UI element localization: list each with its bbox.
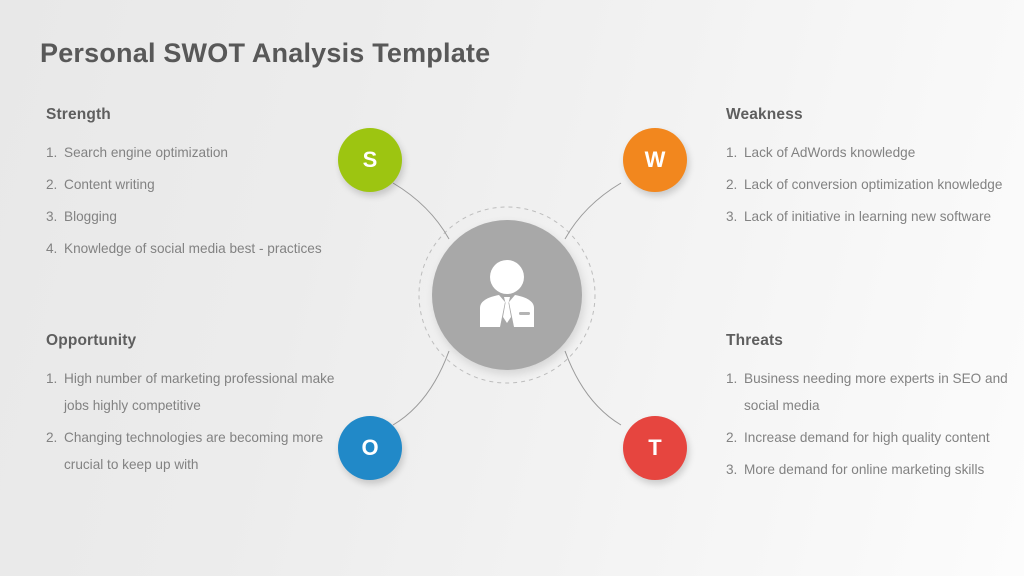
node-label-t: T [648,435,661,461]
list-item: 1.Business needing more experts in SEO a… [726,366,1024,420]
list-item-number: 1. [46,366,57,393]
list-item-text: High number of marketing professional ma… [64,371,335,413]
list-item-number: 2. [46,425,57,452]
node-opportunity[interactable]: O [338,416,402,480]
list-item: 2.Changing technologies are becoming mor… [46,425,346,479]
list-item-text: Increase demand for high quality content [744,430,990,445]
quadrant-opportunity: Opportunity 1.High number of marketing p… [46,332,346,484]
node-strength[interactable]: S [338,128,402,192]
list-item-text: Lack of AdWords knowledge [744,145,915,160]
list-item-number: 2. [726,425,737,452]
list-item: 1.Search engine optimization [46,140,346,167]
connector-t [565,351,621,425]
list-item-text: Search engine optimization [64,145,228,160]
node-label-w: W [645,147,666,173]
quadrant-list-opportunity: 1.High number of marketing professional … [46,366,346,479]
quadrant-heading-opportunity: Opportunity [46,332,346,350]
quadrant-heading-strength: Strength [46,106,346,124]
center-hub [432,220,582,370]
quadrant-weakness: Weakness 1.Lack of AdWords knowledge2.La… [726,106,1024,236]
list-item-number: 1. [46,140,57,167]
quadrant-threats: Threats 1.Business needing more experts … [726,332,1024,489]
quadrant-list-strength: 1.Search engine optimization2.Content wr… [46,140,346,263]
list-item-text: Changing technologies are becoming more … [64,430,323,472]
list-item: 2.Lack of conversion optimization knowle… [726,172,1024,199]
list-item-text: Content writing [64,177,155,192]
list-item-number: 4. [46,236,57,263]
slide-canvas: Personal SWOT Analysis Template S W [0,0,1024,576]
list-item-text: Lack of conversion optimization knowledg… [744,177,1002,192]
list-item: 4.Knowledge of social media best - pract… [46,236,346,263]
list-item-number: 2. [726,172,737,199]
list-item-number: 1. [726,140,737,167]
list-item-number: 1. [726,366,737,393]
list-item-text: Business needing more experts in SEO and… [744,371,1008,413]
list-item-text: Knowledge of social media best - practic… [64,241,322,256]
list-item: 3.More demand for online marketing skill… [726,457,1024,484]
node-threats[interactable]: T [623,416,687,480]
list-item: 1.Lack of AdWords knowledge [726,140,1024,167]
quadrant-heading-weakness: Weakness [726,106,1024,124]
connector-w [565,183,621,239]
list-item: 3.Blogging [46,204,346,231]
node-label-s: S [363,147,378,173]
list-item-text: Blogging [64,209,117,224]
list-item-number: 2. [46,172,57,199]
list-item: 2.Increase demand for high quality conte… [726,425,1024,452]
connector-o [393,351,449,425]
quadrant-heading-threats: Threats [726,332,1024,350]
list-item-number: 3. [46,204,57,231]
quadrant-list-weakness: 1.Lack of AdWords knowledge2.Lack of con… [726,140,1024,231]
page-title: Personal SWOT Analysis Template [40,38,490,69]
node-label-o: O [361,435,378,461]
connector-s [393,183,449,239]
list-item-text: More demand for online marketing skills [744,462,984,477]
quadrant-list-threats: 1.Business needing more experts in SEO a… [726,366,1024,484]
list-item-number: 3. [726,457,737,484]
list-item-text: Lack of initiative in learning new softw… [744,209,991,224]
list-item: 2.Content writing [46,172,346,199]
list-item: 3.Lack of initiative in learning new sof… [726,204,1024,231]
node-weakness[interactable]: W [623,128,687,192]
businessman-icon [474,259,540,331]
list-item: 1.High number of marketing professional … [46,366,346,420]
quadrant-strength: Strength 1.Search engine optimization2.C… [46,106,346,268]
list-item-number: 3. [726,204,737,231]
